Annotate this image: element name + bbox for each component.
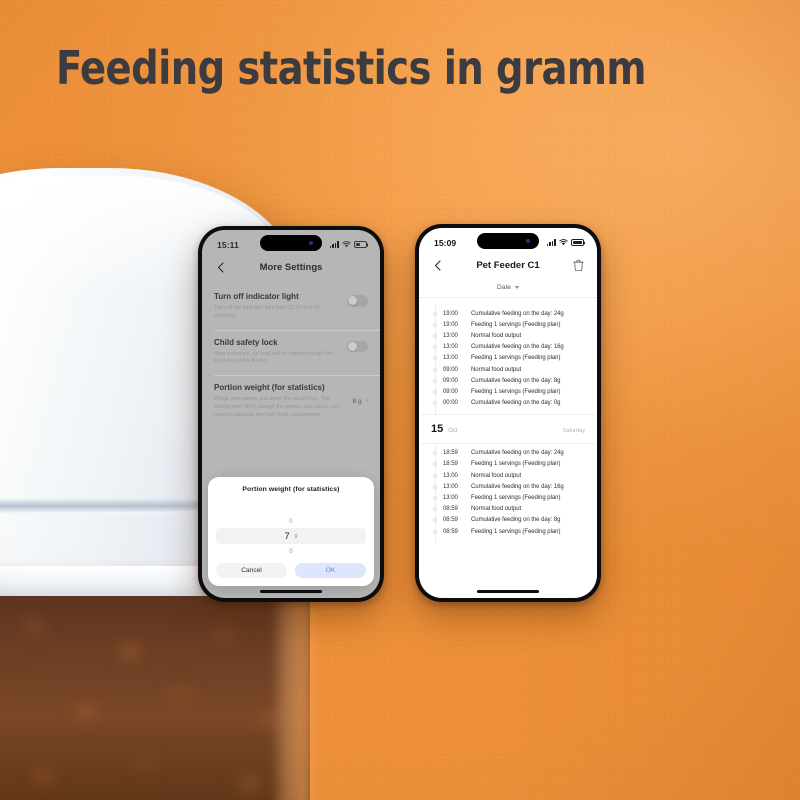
log-row[interactable]: 13:00Feeding 1 servings (Feeding plan) xyxy=(419,492,597,503)
log-text: Cumulative feeding on the day: 24g xyxy=(471,450,564,456)
timeline-dot-icon xyxy=(433,530,437,534)
dynamic-island xyxy=(477,233,539,249)
log-row[interactable]: 13:00Normal food output xyxy=(419,330,597,341)
log-row[interactable]: 09:00Feeding 1 servings (Feeding plan) xyxy=(419,386,597,397)
date-filter-dropdown[interactable]: Date xyxy=(419,278,597,298)
log-text: Cumulative feeding on the day: 0g xyxy=(471,400,560,406)
log-time: 19:00 xyxy=(443,311,465,317)
log-row[interactable]: 13:00Feeding 1 servings (Feeding plan) xyxy=(419,353,597,364)
log-time: 13:00 xyxy=(443,484,465,490)
log-time: 13:00 xyxy=(443,344,465,350)
picker-option-above[interactable]: 6 xyxy=(216,514,366,528)
log-text: Normal food output xyxy=(471,333,521,339)
log-text: Cumulative feeding on the day: 16g xyxy=(471,344,564,350)
timeline-dot-icon xyxy=(433,507,437,511)
log-time: 09:00 xyxy=(443,389,465,395)
log-text: Normal food output xyxy=(471,506,521,512)
log-row[interactable]: 13:00Cumulative feeding on the day: 16g xyxy=(419,342,597,353)
signal-bars-icon xyxy=(547,239,556,246)
modal-title: Portion weight (for statistics) xyxy=(216,486,366,493)
log-text: Normal food output xyxy=(471,367,521,373)
date-weekday: Saturday xyxy=(563,428,585,434)
log-time: 13:00 xyxy=(443,333,465,339)
log-text: Feeding 1 servings (Feeding plan) xyxy=(471,529,560,535)
log-row[interactable]: 13:00Normal food output xyxy=(419,470,597,481)
log-text: Feeding 1 servings (Feeding plan) xyxy=(471,322,560,328)
log-time: 19:00 xyxy=(443,322,465,328)
timeline-dot-icon xyxy=(433,485,437,489)
number-picker[interactable]: 6 7 g 8 xyxy=(216,500,366,558)
timeline-dot-icon xyxy=(433,518,437,522)
battery-icon xyxy=(571,239,584,246)
chevron-down-icon xyxy=(515,286,519,289)
status-icons xyxy=(547,239,584,246)
log-row[interactable]: 13:00Cumulative feeding on the day: 16g xyxy=(419,481,597,492)
log-row[interactable]: 09:00Cumulative feeding on the day: 8g xyxy=(419,375,597,386)
background-scene xyxy=(0,0,800,800)
phone-left-more-settings: 15:11 More Settings Turn off indicator xyxy=(198,226,384,602)
log-time: 13:00 xyxy=(443,355,465,361)
wifi-icon xyxy=(559,239,568,246)
chevron-left-icon[interactable] xyxy=(429,257,445,273)
log-time: 18:59 xyxy=(443,450,465,456)
picker-row-faded-top xyxy=(216,500,366,514)
log-row[interactable]: 08:59Cumulative feeding on the day: 8g xyxy=(419,515,597,526)
log-row[interactable]: 08:59Normal food output xyxy=(419,504,597,515)
scene-vignette xyxy=(0,0,800,800)
log-time: 09:00 xyxy=(443,378,465,384)
nav-title-right: Pet Feeder C1 xyxy=(419,260,597,271)
trash-icon[interactable] xyxy=(573,258,587,272)
home-indicator[interactable] xyxy=(477,590,539,593)
portion-weight-picker-modal: Portion weight (for statistics) 6 7 g 8 … xyxy=(208,477,374,586)
date-month: Oct xyxy=(448,428,457,434)
timeline-dot-icon xyxy=(433,334,437,338)
timeline-dot-icon xyxy=(433,451,437,455)
date-day: 15 xyxy=(431,423,443,435)
phone-right-screen: 15:09 Pet Feeder C1 xyxy=(419,228,597,598)
timeline-dot-icon xyxy=(433,368,437,372)
timeline-dot-icon xyxy=(433,345,437,349)
date-filter-label: Date xyxy=(497,284,511,291)
log-group-today: 19:00Cumulative feeding on the day: 24g … xyxy=(419,304,597,414)
date-divider: 15 Oct Saturday xyxy=(419,414,597,444)
picker-selected-value: 7 xyxy=(285,531,290,541)
status-time: 15:09 xyxy=(434,238,456,248)
log-text: Feeding 1 servings (Feeding plan) xyxy=(471,355,560,361)
log-text: Cumulative feeding on the day: 16g xyxy=(471,484,564,490)
phone-left-screen: 15:11 More Settings Turn off indicator xyxy=(202,230,380,598)
log-text: Feeding 1 servings (Feeding plan) xyxy=(471,461,560,467)
modal-actions: Cancel OK xyxy=(216,563,366,578)
timeline-dot-icon xyxy=(433,379,437,383)
picker-selected-unit: g xyxy=(295,533,298,539)
log-text: Cumulative feeding on the day: 24g xyxy=(471,311,564,317)
log-row[interactable]: 08:59Feeding 1 servings (Feeding plan) xyxy=(419,526,597,537)
log-row[interactable]: 19:00Feeding 1 servings (Feeding plan) xyxy=(419,319,597,330)
log-time: 00:00 xyxy=(443,400,465,406)
ok-button[interactable]: OK xyxy=(295,563,366,578)
feeding-log-list[interactable]: 19:00Cumulative feeding on the day: 24g … xyxy=(419,298,597,598)
timeline-dot-icon xyxy=(433,401,437,405)
timeline-dot-icon xyxy=(433,323,437,327)
timeline-dot-icon xyxy=(433,462,437,466)
phone-right-feeding-log: 15:09 Pet Feeder C1 xyxy=(415,224,601,602)
log-time: 09:00 xyxy=(443,367,465,373)
log-text: Cumulative feeding on the day: 8g xyxy=(471,517,560,523)
log-row[interactable]: 19:00Cumulative feeding on the day: 24g xyxy=(419,308,597,319)
log-text: Feeding 1 servings (Feeding plan) xyxy=(471,389,560,395)
log-row[interactable]: 18:59Feeding 1 servings (Feeding plan) xyxy=(419,459,597,470)
timeline-dot-icon xyxy=(433,356,437,360)
picker-option-selected[interactable]: 7 g xyxy=(216,528,366,544)
log-group-oct-15: 18:59Cumulative feeding on the day: 24g … xyxy=(419,444,597,543)
log-time: 13:00 xyxy=(443,473,465,479)
log-time: 08:59 xyxy=(443,517,465,523)
log-text: Feeding 1 servings (Feeding plan) xyxy=(471,495,560,501)
timeline-dot-icon xyxy=(433,312,437,316)
log-text: Cumulative feeding on the day: 8g xyxy=(471,378,560,384)
page-title: Feeding statistics in gramm xyxy=(56,41,646,95)
cancel-button[interactable]: Cancel xyxy=(216,563,287,578)
picker-option-below[interactable]: 8 xyxy=(216,544,366,558)
nav-bar-right: Pet Feeder C1 xyxy=(419,252,597,278)
log-time: 08:59 xyxy=(443,529,465,535)
log-time: 13:00 xyxy=(443,495,465,501)
log-time: 18:59 xyxy=(443,461,465,467)
log-row[interactable]: 09:00Normal food output xyxy=(419,364,597,375)
log-row[interactable]: 00:00Cumulative feeding on the day: 0g xyxy=(419,398,597,409)
log-time: 08:59 xyxy=(443,506,465,512)
timeline-dot-icon xyxy=(433,390,437,394)
timeline-dot-icon xyxy=(433,496,437,500)
camera-dot-icon xyxy=(526,239,530,243)
log-text: Normal food output xyxy=(471,473,521,479)
log-row[interactable]: 18:59Cumulative feeding on the day: 24g xyxy=(419,448,597,459)
timeline-dot-icon xyxy=(433,474,437,478)
